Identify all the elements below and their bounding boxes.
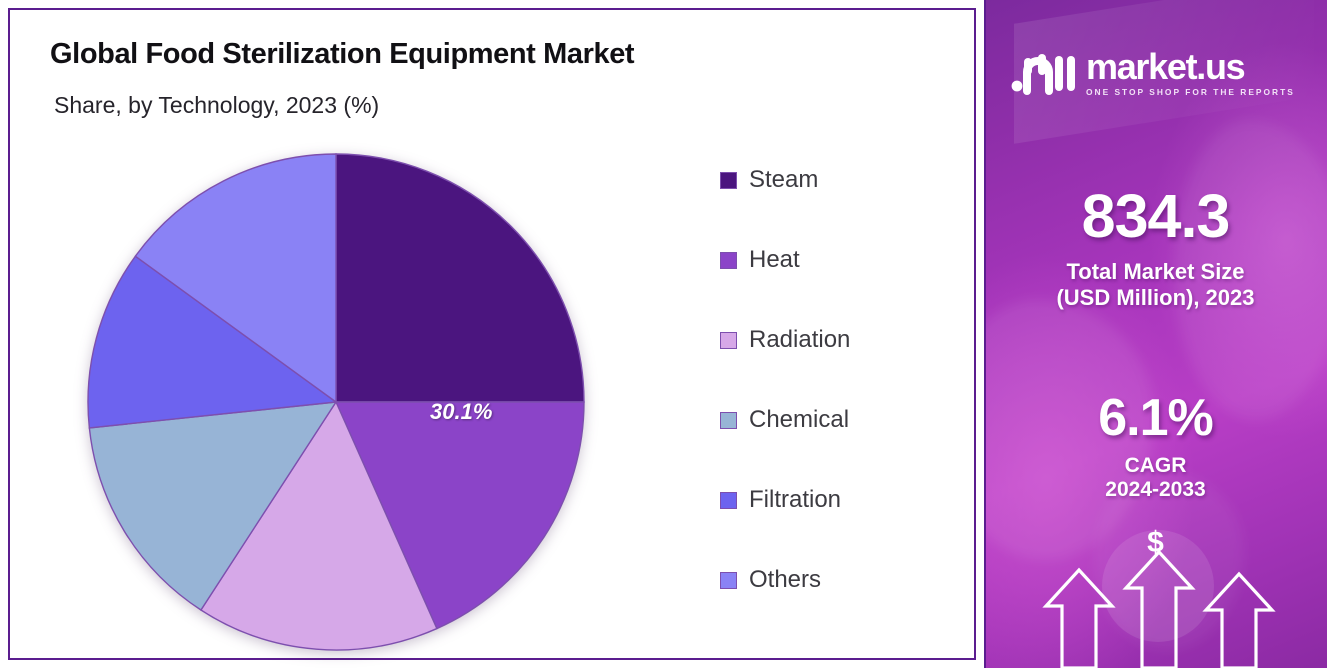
legend-item[interactable]: Radiation	[720, 300, 960, 380]
legend-swatch-icon	[720, 412, 737, 429]
legend-swatch-icon	[720, 172, 737, 189]
legend-item-label: Chemical	[749, 406, 849, 434]
legend-swatch-icon	[720, 252, 737, 269]
stat-total-market-size: 834.3 Total Market Size (USD Million), 2…	[984, 186, 1327, 310]
market-us-logo-icon	[1010, 50, 1076, 96]
legend-item-label: Filtration	[749, 486, 841, 514]
legend-item-label: Others	[749, 566, 821, 594]
infographic-root: Global Food Sterilization Equipment Mark…	[0, 0, 1327, 668]
chart-title: Global Food Sterilization Equipment Mark…	[50, 38, 634, 71]
stat-value: 6.1%	[984, 392, 1327, 444]
brand-logo-tagline: ONE STOP SHOP FOR THE REPORTS	[1086, 87, 1295, 97]
pie-chart: 30.1%	[78, 147, 598, 663]
pie-slice-label-steam: 30.1%	[430, 399, 492, 425]
up-arrows-icon	[984, 488, 1327, 668]
stat-value: 834.3	[984, 186, 1327, 247]
pie-slice-steam[interactable]	[336, 154, 584, 402]
chart-panel: Global Food Sterilization Equipment Mark…	[0, 0, 984, 668]
stat-caption-line: (USD Million), 2023	[984, 285, 1327, 311]
legend-item[interactable]: Filtration	[720, 460, 960, 540]
stat-caption-line: CAGR	[984, 454, 1327, 478]
brand-panel: market.us ONE STOP SHOP FOR THE REPORTS …	[984, 0, 1327, 668]
stat-caption-line: Total Market Size	[984, 259, 1327, 285]
legend-swatch-icon	[720, 332, 737, 349]
pie-slices-svg	[78, 147, 598, 663]
legend-item-label: Heat	[749, 246, 800, 274]
brand-logo-wordmark: market.us	[1086, 49, 1295, 85]
legend-item[interactable]: Others	[720, 540, 960, 620]
legend-item[interactable]: Steam	[720, 140, 960, 220]
stat-cagr: 6.1% CAGR 2024-2033	[984, 392, 1327, 503]
chart-legend: Steam Heat Radiation Chemical Filtration	[720, 140, 960, 620]
brand-logo[interactable]: market.us ONE STOP SHOP FOR THE REPORTS	[1010, 46, 1295, 100]
legend-item-label: Radiation	[749, 326, 850, 354]
chart-frame: Global Food Sterilization Equipment Mark…	[8, 8, 976, 660]
chart-subtitle: Share, by Technology, 2023 (%)	[54, 92, 379, 119]
growth-illustration: $	[984, 488, 1327, 668]
legend-item[interactable]: Chemical	[720, 380, 960, 460]
legend-swatch-icon	[720, 492, 737, 509]
legend-swatch-icon	[720, 572, 737, 589]
stat-caption: Total Market Size (USD Million), 2023	[984, 259, 1327, 310]
legend-item-label: Steam	[749, 166, 818, 194]
legend-item[interactable]: Heat	[720, 220, 960, 300]
